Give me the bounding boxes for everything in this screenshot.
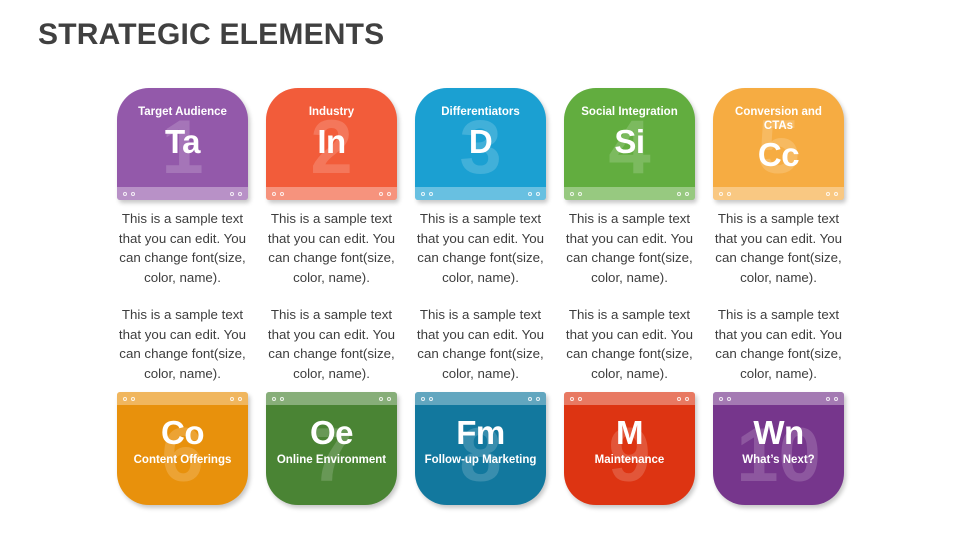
card-symbol: D — [415, 123, 546, 161]
card-chrome-bar — [117, 392, 248, 405]
chrome-dot-icon — [272, 192, 276, 196]
chrome-dots-left — [421, 397, 433, 401]
card-label: Social Integration — [564, 106, 695, 120]
element-card-whats-next[interactable]: 10 Wn What’s Next? — [713, 392, 844, 505]
card-content: Conversion and CTAs Cc — [713, 106, 844, 174]
element-card-online-environment[interactable]: 7 Oe Online Environment — [266, 392, 397, 505]
card-symbol: Fm — [415, 414, 546, 452]
chrome-dot-icon — [677, 397, 681, 401]
card-chrome-bar — [564, 392, 695, 405]
card-chrome-bar — [415, 187, 546, 200]
description-text: This is a sample text that you can edit.… — [113, 209, 252, 287]
card-content: Social Integration Si — [564, 106, 695, 161]
card-content: Co Content Offerings — [117, 414, 248, 468]
chrome-dot-icon — [379, 192, 383, 196]
element-card-maintenance[interactable]: 9 M Maintenance — [564, 392, 695, 505]
chrome-dot-icon — [238, 192, 242, 196]
chrome-dot-icon — [280, 192, 284, 196]
card-chrome-bar — [117, 187, 248, 200]
chrome-dots-right — [677, 397, 689, 401]
element-card-follow-up-marketing[interactable]: 8 Fm Follow-up Marketing — [415, 392, 546, 505]
chrome-dot-icon — [536, 192, 540, 196]
chrome-dots-right — [677, 192, 689, 196]
card-surface: 3 Differentiators D — [415, 88, 546, 200]
element-card-conversion-and-ctas[interactable]: 5 Conversion and CTAs Cc — [713, 88, 844, 200]
chrome-dot-icon — [123, 397, 127, 401]
card-symbol: Co — [117, 414, 248, 452]
page-title: STRATEGIC ELEMENTS — [38, 18, 384, 52]
card-surface: 6 Co Content Offerings — [117, 392, 248, 505]
chrome-dot-icon — [685, 397, 689, 401]
description-text: This is a sample text that you can edit.… — [411, 209, 550, 287]
chrome-dots-left — [123, 192, 135, 196]
chrome-dots-left — [570, 192, 582, 196]
chrome-dots-right — [826, 397, 838, 401]
card-chrome-bar — [713, 392, 844, 405]
card-content: M Maintenance — [564, 414, 695, 468]
card-content: Differentiators D — [415, 106, 546, 161]
chrome-dot-icon — [826, 192, 830, 196]
card-symbol: Cc — [713, 136, 844, 174]
card-label: Online Environment — [266, 454, 397, 468]
description-text: This is a sample text that you can edit.… — [709, 305, 848, 383]
chrome-dot-icon — [230, 397, 234, 401]
card-label: What’s Next? — [713, 454, 844, 468]
chrome-dot-icon — [421, 192, 425, 196]
element-card-content-offerings[interactable]: 6 Co Content Offerings — [117, 392, 248, 505]
card-content: Fm Follow-up Marketing — [415, 414, 546, 468]
card-chrome-bar — [415, 392, 546, 405]
chrome-dot-icon — [719, 192, 723, 196]
chrome-dots-right — [528, 397, 540, 401]
chrome-dots-left — [421, 192, 433, 196]
chrome-dot-icon — [387, 192, 391, 196]
card-symbol: Oe — [266, 414, 397, 452]
description-text: This is a sample text that you can edit.… — [262, 305, 401, 383]
element-card-target-audience[interactable]: 1 Target Audience Ta — [117, 88, 248, 200]
card-label: Conversion and CTAs — [713, 106, 844, 133]
card-chrome-bar — [713, 187, 844, 200]
chrome-dots-left — [719, 397, 731, 401]
card-label: Content Offerings — [117, 454, 248, 468]
card-symbol: M — [564, 414, 695, 452]
chrome-dot-icon — [387, 397, 391, 401]
chrome-dot-icon — [578, 192, 582, 196]
card-content: Oe Online Environment — [266, 414, 397, 468]
card-surface: 5 Conversion and CTAs Cc — [713, 88, 844, 200]
card-label: Maintenance — [564, 454, 695, 468]
element-card-differentiators[interactable]: 3 Differentiators D — [415, 88, 546, 200]
chrome-dots-right — [826, 192, 838, 196]
element-card-industry[interactable]: 2 Industry In — [266, 88, 397, 200]
card-surface: 10 Wn What’s Next? — [713, 392, 844, 505]
chrome-dots-right — [230, 397, 242, 401]
card-symbol: Ta — [117, 123, 248, 161]
description-text: This is a sample text that you can edit.… — [411, 305, 550, 383]
chrome-dot-icon — [528, 192, 532, 196]
chrome-dot-icon — [421, 397, 425, 401]
chrome-dots-right — [528, 192, 540, 196]
card-label: Follow-up Marketing — [415, 454, 546, 468]
chrome-dot-icon — [685, 192, 689, 196]
card-symbol: Wn — [713, 414, 844, 452]
chrome-dot-icon — [123, 192, 127, 196]
chrome-dot-icon — [826, 397, 830, 401]
chrome-dot-icon — [677, 192, 681, 196]
description-text: This is a sample text that you can edit.… — [560, 305, 699, 383]
chrome-dot-icon — [272, 397, 276, 401]
chrome-dots-right — [379, 192, 391, 196]
chrome-dots-left — [272, 192, 284, 196]
card-surface: 7 Oe Online Environment — [266, 392, 397, 505]
chrome-dots-left — [272, 397, 284, 401]
chrome-dots-right — [230, 192, 242, 196]
card-label: Target Audience — [117, 106, 248, 120]
chrome-dots-left — [570, 397, 582, 401]
card-label: Industry — [266, 106, 397, 120]
chrome-dot-icon — [727, 192, 731, 196]
chrome-dot-icon — [429, 192, 433, 196]
chrome-dot-icon — [230, 192, 234, 196]
chrome-dots-left — [123, 397, 135, 401]
card-symbol: Si — [564, 123, 695, 161]
chrome-dot-icon — [429, 397, 433, 401]
card-label: Differentiators — [415, 106, 546, 120]
chrome-dot-icon — [834, 192, 838, 196]
chrome-dot-icon — [578, 397, 582, 401]
chrome-dot-icon — [834, 397, 838, 401]
description-text: This is a sample text that you can edit.… — [113, 305, 252, 383]
chrome-dot-icon — [570, 397, 574, 401]
card-content: Industry In — [266, 106, 397, 161]
chrome-dot-icon — [536, 397, 540, 401]
card-chrome-bar — [266, 187, 397, 200]
card-symbol: In — [266, 123, 397, 161]
description-text: This is a sample text that you can edit.… — [560, 209, 699, 287]
chrome-dot-icon — [280, 397, 284, 401]
card-surface: 8 Fm Follow-up Marketing — [415, 392, 546, 505]
card-content: Wn What’s Next? — [713, 414, 844, 468]
card-surface: 4 Social Integration Si — [564, 88, 695, 200]
chrome-dots-left — [719, 192, 731, 196]
chrome-dot-icon — [727, 397, 731, 401]
card-chrome-bar — [564, 187, 695, 200]
card-surface: 2 Industry In — [266, 88, 397, 200]
card-surface: 1 Target Audience Ta — [117, 88, 248, 200]
chrome-dot-icon — [379, 397, 383, 401]
slide-canvas: STRATEGIC ELEMENTS 1 Target Audience Ta — [0, 0, 960, 540]
chrome-dot-icon — [238, 397, 242, 401]
chrome-dot-icon — [131, 192, 135, 196]
description-text: This is a sample text that you can edit.… — [709, 209, 848, 287]
description-text: This is a sample text that you can edit.… — [262, 209, 401, 287]
card-chrome-bar — [266, 392, 397, 405]
chrome-dot-icon — [570, 192, 574, 196]
card-surface: 9 M Maintenance — [564, 392, 695, 505]
chrome-dot-icon — [528, 397, 532, 401]
card-content: Target Audience Ta — [117, 106, 248, 161]
element-card-social-integration[interactable]: 4 Social Integration Si — [564, 88, 695, 200]
chrome-dot-icon — [131, 397, 135, 401]
chrome-dots-right — [379, 397, 391, 401]
chrome-dot-icon — [719, 397, 723, 401]
